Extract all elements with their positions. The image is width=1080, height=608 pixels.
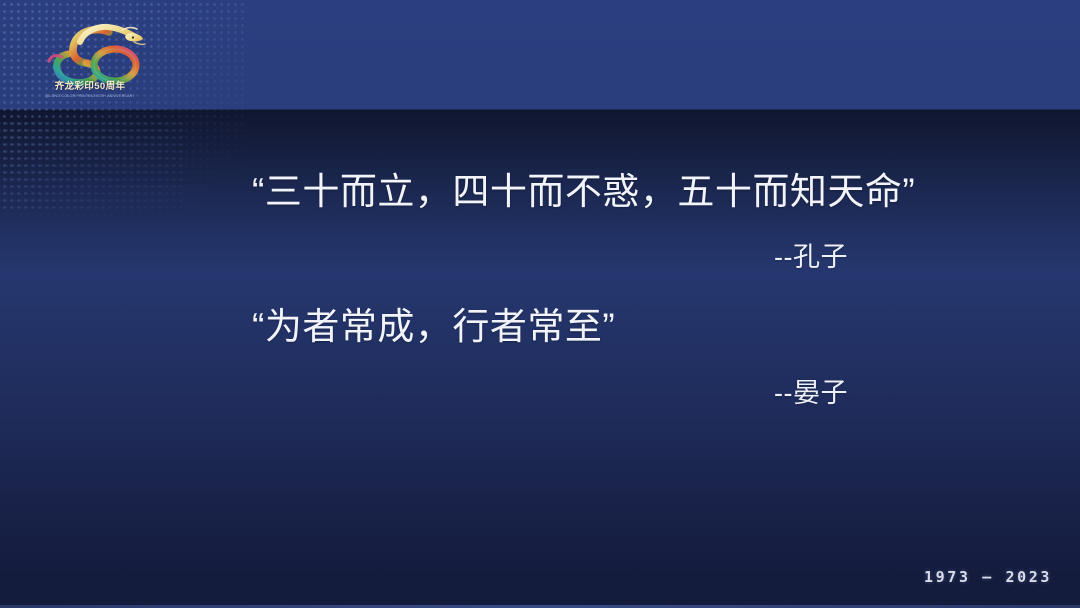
quote-attribution-2: --晏子: [774, 371, 848, 410]
quote-content: “三十而立，四十而不惑，五十而知天命” --孔子 “为者常成，行者常至” --晏…: [0, 0, 1080, 608]
quote-attribution-1: --孔子: [774, 235, 848, 274]
presentation-slide: 齐龙彩印50周年 QILONG COLOR PRINTING 50TH ANNI…: [0, 0, 1080, 608]
quote-text-2: “为者常成，行者常至”: [252, 296, 615, 350]
anniversary-year-range: 1973 — 2023: [924, 568, 1052, 586]
quote-text-1: “三十而立，四十而不惑，五十而知天命”: [252, 161, 915, 215]
